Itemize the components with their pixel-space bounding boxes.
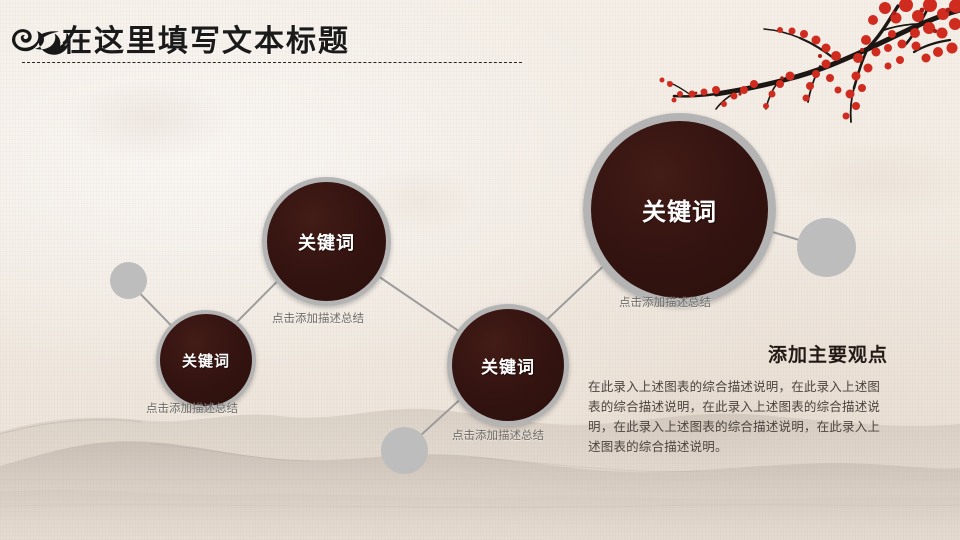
keyword-node-4-label: 关键词 [642, 192, 717, 227]
keyword-node-4[interactable]: 关键词 [583, 113, 776, 306]
circle-flow-diagram: 关键词 关键词 关键词 关键词 点击添加描述总结 点击添加描述总结 点击添加描述… [0, 0, 960, 540]
main-point-heading: 添加主要观点 [588, 340, 888, 367]
main-point-body: 在此录入上述图表的综合描述说明，在此录入上述图表的综合描述说明，在此录入上述图表… [588, 377, 888, 457]
keyword-node-1-label: 关键词 [182, 350, 230, 371]
keyword-node-1-caption: 点击添加描述总结 [146, 400, 238, 416]
accent-dot-b [381, 427, 428, 474]
main-point-panel: 添加主要观点 在此录入上述图表的综合描述说明，在此录入上述图表的综合描述说明，在… [588, 340, 888, 457]
keyword-node-2[interactable]: 关键词 [262, 177, 391, 306]
accent-dot-c [797, 218, 856, 277]
keyword-node-1[interactable]: 关键词 [156, 310, 256, 410]
slide-canvas: 在这里填写文本标题 关键词 关键词 关键词 关键词 [0, 0, 960, 540]
keyword-node-3-label: 关键词 [481, 353, 535, 378]
keyword-node-2-label: 关键词 [298, 229, 355, 255]
keyword-node-3-caption: 点击添加描述总结 [452, 427, 544, 443]
keyword-node-2-caption: 点击添加描述总结 [272, 310, 364, 326]
keyword-node-3[interactable]: 关键词 [447, 304, 569, 426]
keyword-node-4-caption: 点击添加描述总结 [619, 294, 711, 310]
accent-dot-a [110, 262, 147, 299]
